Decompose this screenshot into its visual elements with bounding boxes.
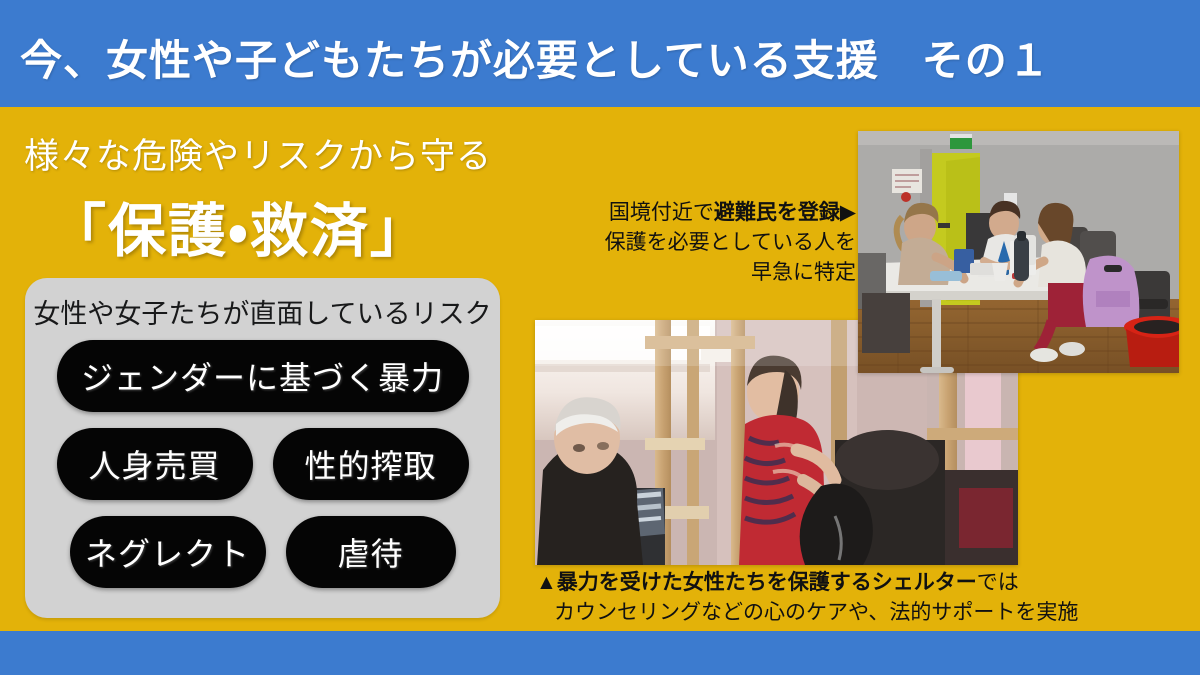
- caption-text-bold: 暴力を受けた女性たちを保護するシェルター: [557, 571, 977, 594]
- risk-pill-trafficking[interactable]: 人身売買: [57, 428, 253, 500]
- risk-pill-neglect[interactable]: ネグレクト: [70, 516, 266, 588]
- risk-panel-title: 女性や女子たちが直面しているリスク: [25, 292, 500, 331]
- caption-line: 保護を必要としている人を: [560, 228, 856, 258]
- caption-text: 国境付近で: [609, 201, 714, 224]
- caption-text-bold: 避難民を登録▶: [714, 201, 856, 224]
- shelter-photo-caption: ▲暴力を受けた女性たちを保護するシェルターでは カウンセリングなどの心のケアや、…: [536, 568, 1146, 628]
- caption-text: では: [977, 571, 1019, 594]
- registration-photo-image: [858, 131, 1179, 373]
- registration-photo: [858, 131, 1179, 373]
- risk-pill-abuse[interactable]: 虐待: [286, 516, 456, 588]
- risk-pill-row: ジェンダーに基づく暴力: [25, 340, 500, 412]
- caption-line: 早急に特定: [560, 258, 856, 288]
- risk-panel: 女性や女子たちが直面しているリスク ジェンダーに基づく暴力 人身売買 性的搾取 …: [25, 278, 500, 618]
- risk-pill-group: ジェンダーに基づく暴力 人身売買 性的搾取 ネグレクト 虐待: [25, 340, 500, 604]
- section-heading: 「保護・救済」: [48, 184, 430, 268]
- slide-root: 今、女性や子どもたちが必要としている支援 その１ 様々な危険やリスクから守る 「…: [0, 0, 1200, 675]
- caption-line: 国境付近で避難民を登録▶: [560, 198, 856, 228]
- risk-pill-row: 人身売買 性的搾取: [25, 428, 500, 500]
- risk-pill-gender-violence[interactable]: ジェンダーに基づく暴力: [57, 340, 469, 412]
- footer-band: [0, 631, 1200, 675]
- risk-pill-row: ネグレクト 虐待: [25, 516, 500, 588]
- registration-photo-caption: 国境付近で避難民を登録▶ 保護を必要としている人を 早急に特定: [560, 198, 856, 288]
- caption-marker: ▲: [536, 571, 557, 594]
- caption-line: ▲暴力を受けた女性たちを保護するシェルターでは: [536, 568, 1146, 598]
- page-title: 今、女性や子どもたちが必要としている支援 その１: [20, 27, 1051, 88]
- caption-line: カウンセリングなどの心のケアや、法的サポートを実施: [536, 598, 1146, 628]
- risk-pill-sexual-exploitation[interactable]: 性的搾取: [273, 428, 469, 500]
- section-subtitle: 様々な危険やリスクから守る: [24, 128, 492, 179]
